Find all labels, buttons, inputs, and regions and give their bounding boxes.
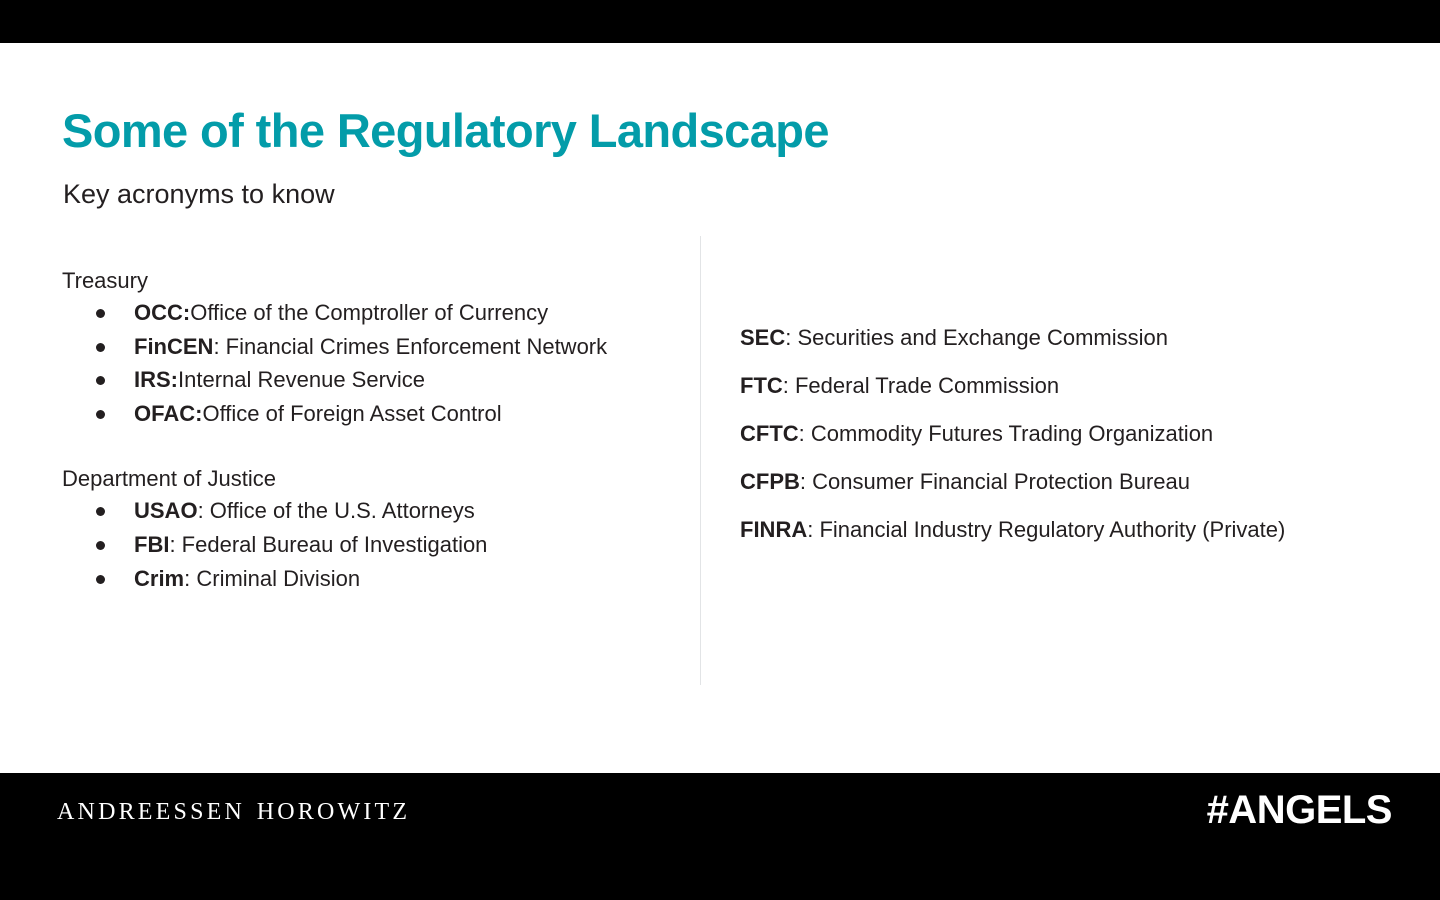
list-item: FBI: Federal Bureau of Investigation [62,528,618,562]
acronym-definition: : Securities and Exchange Commission [785,325,1168,350]
acronym-term: Crim [134,566,184,591]
left-column: Treasury OCC:Office of the Comptroller o… [62,266,682,595]
acronym-term: CFTC [740,421,799,446]
right-column: SEC: Securities and Exchange Commission … [740,324,1430,544]
slide-canvas: Some of the Regulatory Landscape Key acr… [0,0,1440,900]
acronym-definition: : Federal Bureau of Investigation [169,532,487,557]
acronym-definition: : Commodity Futures Trading Organization [799,421,1214,446]
group-heading: Treasury [62,266,682,296]
acronym-term: OFAC: [134,401,202,426]
column-divider [700,236,701,685]
acronym-definition: : Federal Trade Commission [783,373,1059,398]
acronym-definition: : Office of the U.S. Attorneys [198,498,475,523]
group-department-of-justice: Department of Justice USAO: Office of th… [62,464,682,595]
acronym-term: USAO [134,498,198,523]
acronym-definition: : Financial Industry Regulatory Authorit… [807,517,1285,542]
list-item: IRS:Internal Revenue Service [62,363,618,397]
acronym-list: USAO: Office of the U.S. Attorneys FBI: … [62,494,682,595]
acronym-definition: : Consumer Financial Protection Bureau [800,469,1190,494]
acronym-definition: : Financial Crimes Enforcement Network [213,334,607,359]
acronym-term: FinCEN [134,334,213,359]
list-item: CFTC: Commodity Futures Trading Organiza… [740,420,1430,448]
page-title: Some of the Regulatory Landscape [62,103,829,158]
list-item: CFPB: Consumer Financial Protection Bure… [740,468,1430,496]
list-item: FTC: Federal Trade Commission [740,372,1430,400]
list-item: OCC:Office of the Comptroller of Currenc… [62,296,618,330]
acronym-definition: Office of the Comptroller of Currency [190,300,548,325]
acronym-term: FTC [740,373,783,398]
page-subtitle: Key acronyms to know [63,179,335,210]
acronym-term: CFPB [740,469,800,494]
list-item: FINRA: Financial Industry Regulatory Aut… [740,516,1430,544]
list-item: USAO: Office of the U.S. Attorneys [62,494,618,528]
andreessen-horowitz-logo: Andreessen Horowitz [57,790,410,828]
acronym-term: FINRA [740,517,807,542]
top-black-band [0,0,1440,43]
acronym-definition: Internal Revenue Service [178,367,425,392]
list-item: Crim: Criminal Division [62,562,618,596]
acronym-term: SEC [740,325,785,350]
acronym-list: OCC:Office of the Comptroller of Currenc… [62,296,682,430]
list-item: SEC: Securities and Exchange Commission [740,324,1430,352]
list-item: OFAC:Office of Foreign Asset Control [62,397,618,431]
acronym-term: OCC: [134,300,190,325]
group-heading: Department of Justice [62,464,682,494]
group-spacer [62,430,682,464]
angels-logo: #ANGELS [1207,788,1392,833]
acronym-term: IRS: [134,367,178,392]
list-item: FinCEN: Financial Crimes Enforcement Net… [62,330,618,364]
group-treasury: Treasury OCC:Office of the Comptroller o… [62,266,682,430]
acronym-definition: : Criminal Division [184,566,360,591]
acronym-term: FBI [134,532,169,557]
acronym-definition: Office of Foreign Asset Control [202,401,501,426]
